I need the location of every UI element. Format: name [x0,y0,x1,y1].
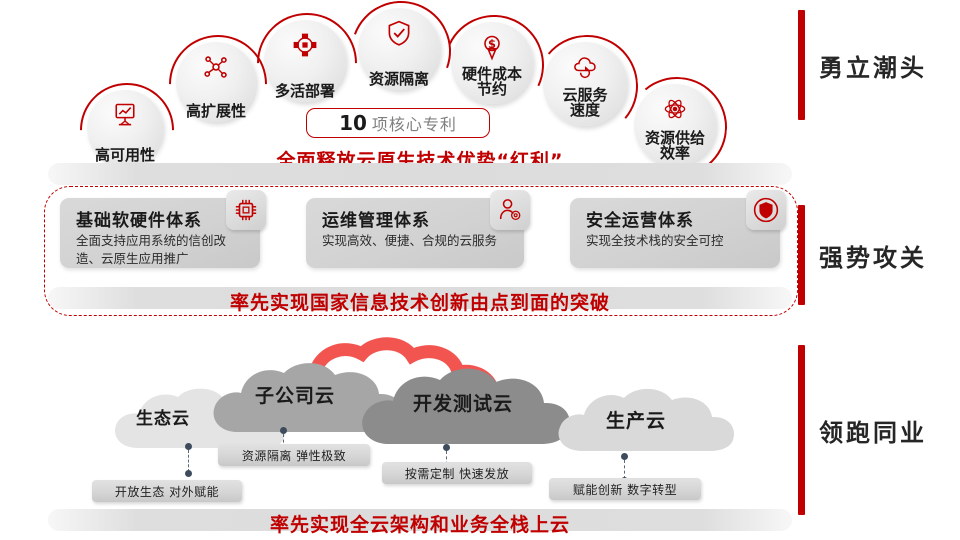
card-security-operations-system[interactable]: 安全运营体系 实现全技术栈的安全可控 [570,198,780,268]
user-gear-icon-wrap [490,190,530,230]
bubble-label: 高可用性 [95,148,155,166]
cloud-label: 开发测试云 [413,389,513,416]
chip-icon-wrap [226,190,266,230]
bubble-label: 资源隔离 [369,72,429,90]
middle-banner-text: 率先实现国家信息技术创新由点到面的突破 [40,288,800,315]
cloud-refresh-icon [571,53,599,81]
bottom-banner-text: 率先实现全云架构和业务全栈上云 [40,510,800,537]
connector-dot-top [280,427,287,434]
shield-check-icon [385,19,413,47]
rail-label-bottom: 领跑同业 [819,413,927,448]
rail-label-middle: 强势攻关 [819,238,927,273]
shield-filled-icon [752,196,780,224]
cloud-tag-ecosystem: 开放生态 对外赋能 [92,480,242,502]
bubble-label: 多活部署 [275,84,335,102]
top-banner-bar [48,163,792,185]
svg-text:$: $ [488,37,496,51]
card-title: 基础软硬件体系 [76,206,202,231]
atom-icon [661,95,689,123]
bubble-multi-active-deployment[interactable]: 多活部署 [264,20,346,102]
bubble-cloud-service-speed[interactable]: 云服务 速度 [543,42,627,126]
user-gear-icon [497,197,523,223]
bubble-hardware-cost-saving[interactable]: $ 硬件成本 节约 [451,22,533,104]
chip-icon [233,197,259,223]
bulb-dollar-icon: $ [478,33,506,61]
bubble-high-availability[interactable]: 高可用性 [87,90,163,166]
shield-filled-icon-wrap [746,190,786,230]
connector-dot-top [621,453,628,460]
cloud-label: 子公司云 [255,381,335,408]
section-rail-top: 勇立潮头 [798,10,927,120]
bubble-high-scalability[interactable]: 高扩展性 [176,42,256,122]
card-title: 安全运营体系 [586,206,694,231]
rail-label-top: 勇立潮头 [819,48,927,83]
cloud-tag-production: 赋能创新 数字转型 [549,478,701,500]
cross-nodes-icon [291,31,319,59]
patent-badge: 10 项核心专利 [306,108,490,138]
cloud-label: 生态云 [136,404,190,429]
card-infrastructure-system[interactable]: 基础软硬件体系 全面支持应用系统的信创改造、云原生应用推广 [60,198,260,268]
card-title: 运维管理体系 [322,206,430,231]
bubble-label-line2: 效率 [660,144,690,162]
chart-board-icon [111,101,139,129]
bubble-label-line2: 节约 [477,80,507,98]
bubble-label: 云服务 速度 [562,88,607,127]
bubble-label: 高扩展性 [186,104,246,122]
network-nodes-icon [202,53,230,81]
patent-count: 10 [339,111,367,135]
cloud-tag-subsidiary: 资源隔离 弹性极致 [218,444,370,466]
bubble-resource-supply-efficiency[interactable]: 资源供给 效率 [634,84,716,166]
section-rail-middle: 强势攻关 [798,205,927,305]
infographic-canvas: 勇立潮头 强势攻关 领跑同业 高可用性 [0,0,960,540]
bubble-label-line2: 速度 [570,101,600,119]
card-operations-management-system[interactable]: 运维管理体系 实现高效、便捷、合规的云服务 [306,198,524,268]
section-rail-bottom: 领跑同业 [798,345,927,515]
cloud-tag-dev-test: 按需定制 快速发放 [382,462,532,484]
cloud-dev-test[interactable]: 开发测试云 [356,362,576,456]
cloud-production[interactable]: 生产云 [553,382,738,462]
card-description: 实现全技术栈的安全可控 [586,232,766,250]
connector-dot-top [443,444,450,451]
connector-dot-bottom [185,470,192,477]
connector-dot-top [185,443,192,450]
bubble-label: 硬件成本 节约 [462,67,522,105]
rail-bar-top [798,10,805,120]
card-description: 实现高效、便捷、合规的云服务 [322,232,510,250]
cloud-label: 生产云 [606,406,666,433]
patent-text: 项核心专利 [372,111,457,135]
rail-bar-bottom [798,345,805,515]
connector-dash [188,450,189,472]
bubble-label: 资源供给 效率 [645,131,705,167]
bubble-resource-isolation[interactable]: 资源隔离 [358,8,440,90]
card-description: 全面支持应用系统的信创改造、云原生应用推广 [76,232,246,268]
